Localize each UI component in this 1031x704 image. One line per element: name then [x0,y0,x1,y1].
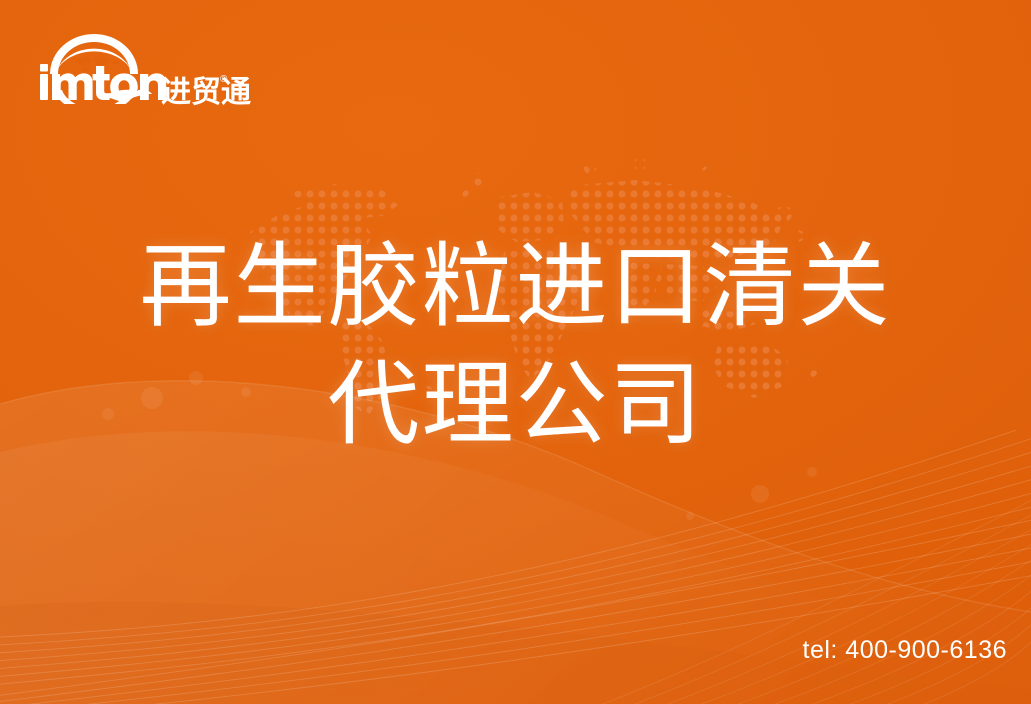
poster-canvas: 进贸通 ® 再生胶粒进口清关 代理公司 tel: 400-900-6136 [0,0,1031,704]
page-title-line-2: 代理公司 [0,346,1031,464]
page-title: 再生胶粒进口清关 代理公司 [0,228,1031,464]
brand-logo[interactable]: 进贸通 ® [34,30,214,102]
contact-phone[interactable]: tel: 400-900-6136 [803,636,1007,664]
page-title-line-1: 再生胶粒进口清关 [0,228,1031,346]
brand-chinese-name: 进贸通 [161,78,251,108]
trademark-symbol: ® [220,75,227,85]
